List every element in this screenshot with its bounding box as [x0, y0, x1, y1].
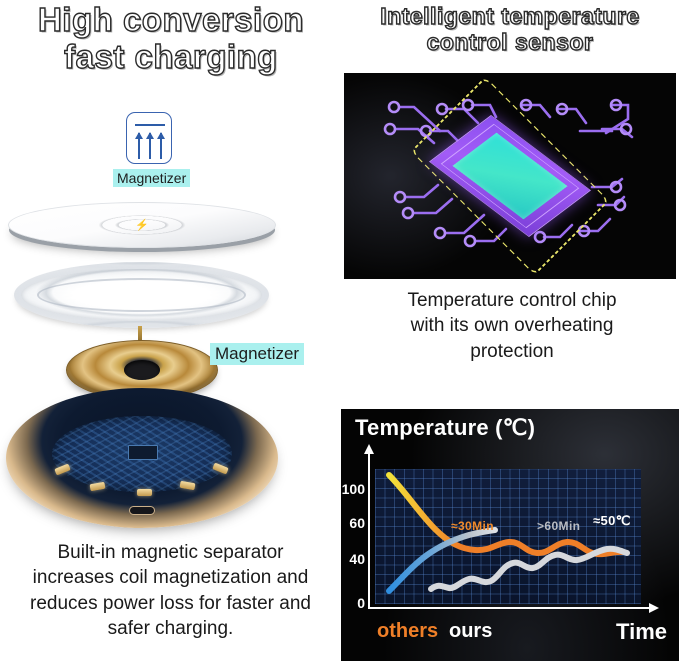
usb-c-port — [129, 506, 155, 515]
magnetizer-icon-label: Magnetizer — [113, 169, 190, 187]
y-axis — [368, 453, 370, 609]
temperature-chart-panel: Temperature (℃) 100 60 40 0 — [341, 409, 679, 661]
magnetizer-badge: Magnetizer — [113, 112, 185, 188]
chart-title: Temperature (℃) — [355, 415, 535, 441]
annotation-60min: >60Min — [537, 519, 580, 533]
chip-photo-panel — [344, 73, 676, 279]
charging-pad-top: ⚡ — [8, 202, 276, 248]
legend-others: others — [377, 620, 438, 643]
page-title-left: High conversion fast charging — [6, 2, 336, 76]
y-tick-60: 60 — [341, 515, 365, 531]
infographic-page: High conversion fast charging Intelligen… — [0, 0, 679, 664]
chart-series-lines — [375, 469, 641, 604]
exploded-charger-illustration: ⚡ — [0, 192, 300, 547]
wireless-charging-icon: ⚡ — [135, 219, 149, 232]
transparent-ring — [14, 262, 269, 328]
magnetizer-callout-label: Magnetizer — [210, 343, 304, 365]
magnetizer-bar-icon — [135, 124, 165, 126]
y-tick-0: 0 — [341, 595, 365, 611]
y-axis-ticks: 100 60 40 0 — [341, 409, 365, 661]
y-tick-100: 100 — [341, 481, 365, 497]
legend-ours: ours — [449, 620, 492, 643]
ic-chip — [128, 445, 159, 460]
caption-left: Built-in magnetic separator increases co… — [8, 540, 333, 641]
x-axis-label: Time — [616, 619, 667, 645]
caption-right: Temperature control chip with its own ov… — [348, 288, 676, 364]
magnetizer-arrows-icon — [135, 129, 165, 159]
x-axis — [368, 607, 650, 609]
annotation-50c: ≈50℃ — [593, 513, 631, 529]
annotation-30min: ≈30Min — [451, 519, 494, 533]
page-title-right: Intelligent temperature control sensor — [344, 4, 676, 56]
circuit-board — [52, 416, 232, 492]
magnetizer-icon — [126, 112, 172, 164]
y-tick-40: 40 — [341, 551, 365, 567]
charger-base — [6, 388, 278, 528]
